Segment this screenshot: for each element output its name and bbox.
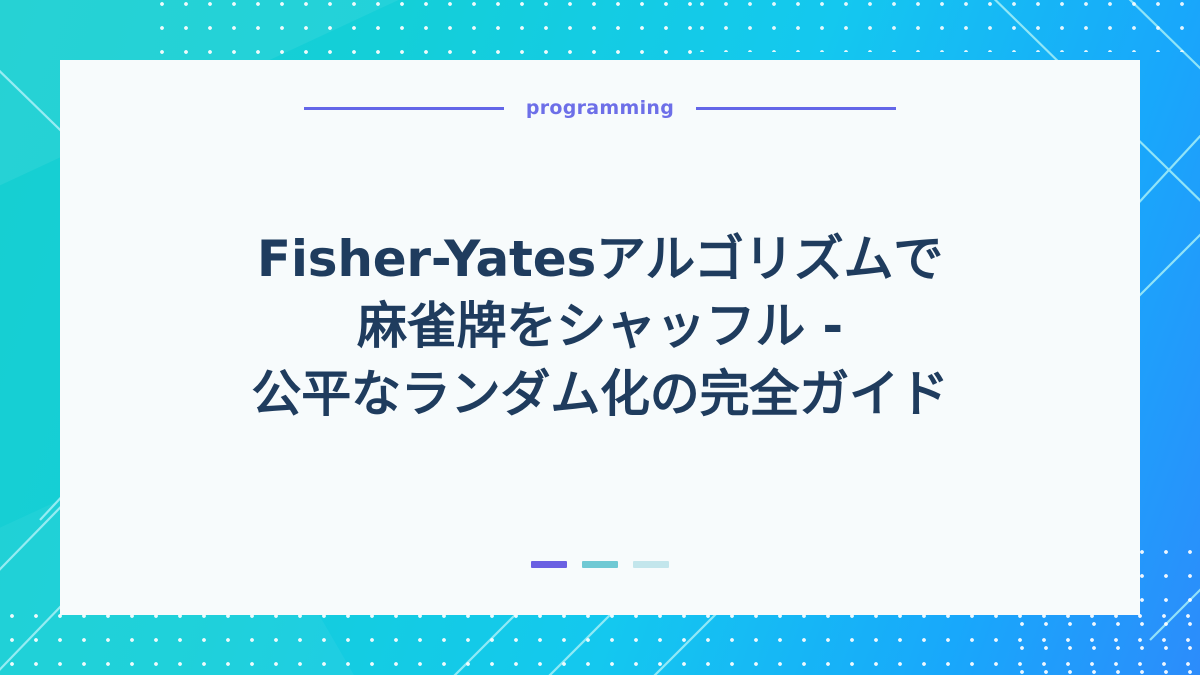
title-line-3: 公平なランダム化の完全ガイド (251, 361, 948, 429)
og-image-canvas: programming Fisher-Yatesアルゴリズムで 麻雀牌をシャッフ… (0, 0, 1200, 675)
title-line-2: 麻雀牌をシャッフル - (357, 293, 843, 361)
title-line-1: Fisher-Yatesアルゴリズムで (257, 226, 943, 294)
dot-pattern-top-right (690, 0, 1200, 52)
dash-teal (582, 561, 618, 568)
page-title: Fisher-Yatesアルゴリズムで 麻雀牌をシャッフル - 公平なランダム化… (60, 93, 1140, 561)
content-card: programming Fisher-Yatesアルゴリズムで 麻雀牌をシャッフ… (60, 60, 1140, 615)
dash-indigo (531, 561, 567, 568)
decorative-dashes (531, 561, 669, 568)
dash-pale (633, 561, 669, 568)
dot-pattern-top-left (150, 0, 710, 64)
